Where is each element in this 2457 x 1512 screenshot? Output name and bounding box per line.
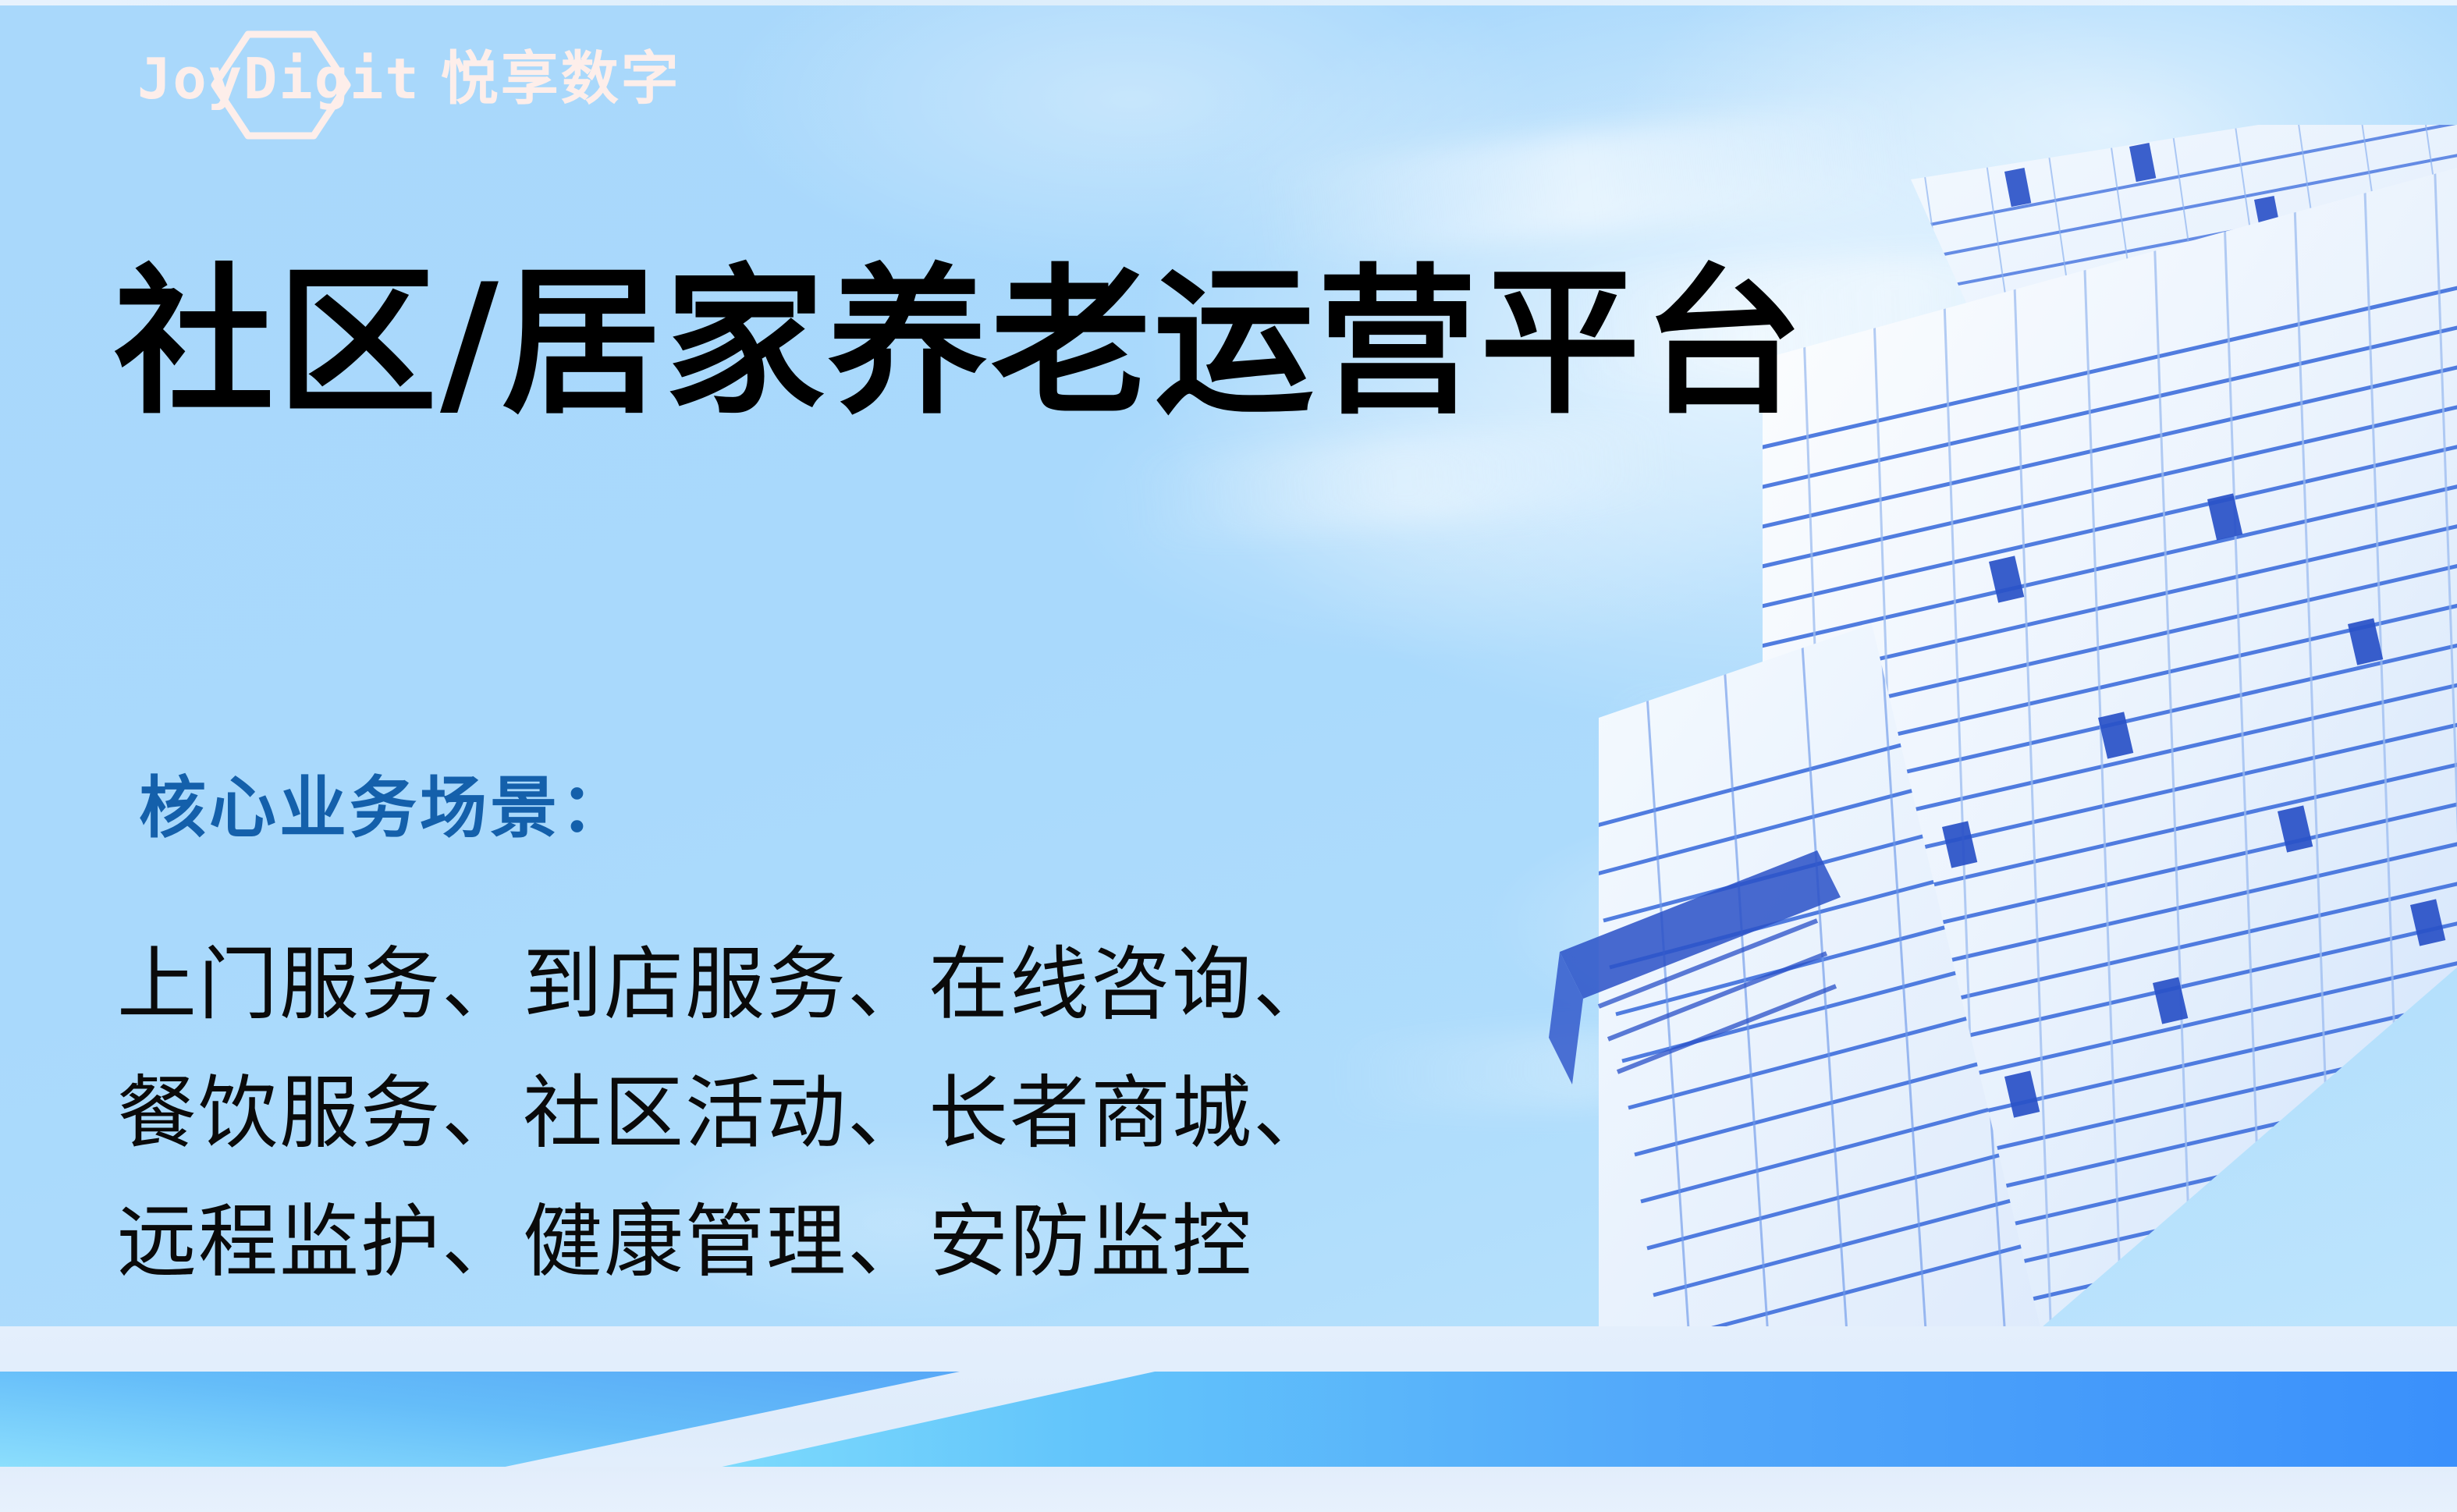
scenario-line: 餐饮服务、社区活动、长者商城、 bbox=[117, 1049, 1334, 1178]
top-edge-strip bbox=[0, 0, 2457, 5]
band-foot-strip bbox=[0, 1467, 2457, 1512]
slide-canvas: JoyDigit 悦享数字 社区/居家养老运营平台 核心业务场景： 上门服务、到… bbox=[0, 0, 2457, 1512]
logo-latin-text: JoyDigit bbox=[137, 51, 421, 107]
logo-cjk-text: 悦享数字 bbox=[441, 50, 681, 108]
scenario-line: 远程监护、健康管理、安防监控 bbox=[117, 1178, 1334, 1307]
section-label-core-scenarios: 核心业务场景： bbox=[139, 768, 630, 849]
scenario-line: 上门服务、到店服务、在线咨询、 bbox=[117, 921, 1334, 1049]
band-shape-right bbox=[687, 1372, 2457, 1475]
brand-logo[interactable]: JoyDigit 悦享数字 bbox=[137, 36, 683, 130]
logo-wordmark: JoyDigit 悦享数字 bbox=[137, 50, 681, 108]
bottom-decorative-band bbox=[0, 1326, 2457, 1512]
scenario-list: 上门服务、到店服务、在线咨询、 餐饮服务、社区活动、长者商城、 远程监护、健康管… bbox=[117, 921, 1334, 1308]
page-title: 社区/居家养老运营平台 bbox=[114, 259, 1806, 428]
